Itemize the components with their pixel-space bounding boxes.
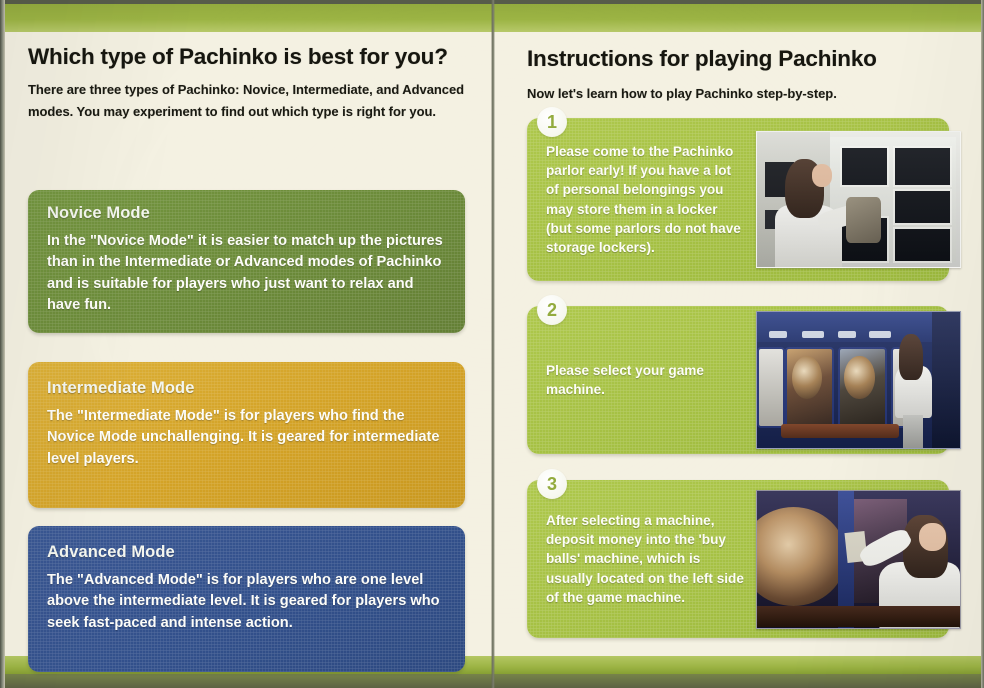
photo-sheen — [757, 491, 960, 628]
mode-card-intermediate: Intermediate Mode The "Intermediate Mode… — [28, 362, 465, 508]
step-text: Please come to the Pachinko parlor early… — [527, 142, 756, 258]
step-card-3: 3 After selecting a machine, deposit mon… — [527, 480, 949, 638]
mode-card-title: Novice Mode — [47, 204, 446, 223]
step-text: After selecting a machine, deposit money… — [527, 511, 756, 607]
brochure-page: Which type of Pachinko is best for you? … — [0, 0, 984, 688]
mode-card-title: Intermediate Mode — [47, 379, 446, 398]
mode-card-title: Advanced Mode — [47, 543, 446, 562]
right-page-intro: Now let's learn how to play Pachinko ste… — [527, 83, 961, 105]
step-card-2: 2 Please select your game machine. — [527, 306, 949, 454]
left-page-intro: There are three types of Pachinko: Novic… — [28, 79, 471, 124]
left-page-title: Which type of Pachinko is best for you? — [28, 44, 471, 70]
step-photo-locker — [756, 131, 961, 268]
mode-card-body: In the "Novice Mode" it is easier to mat… — [47, 231, 446, 316]
step-card-1: 1 Please come to the Pachinko parlor ear… — [527, 118, 949, 281]
step-photo-machines — [756, 311, 961, 449]
photo-sheen — [757, 132, 960, 267]
mode-card-body: The "Intermediate Mode" is for players w… — [47, 406, 446, 470]
mode-card-novice: Novice Mode In the "Novice Mode" it is e… — [28, 190, 465, 333]
mode-card-body: The "Advanced Mode" is for players who a… — [47, 570, 446, 634]
step-number-badge: 3 — [537, 469, 567, 499]
right-page-title: Instructions for playing Pachinko — [527, 46, 961, 72]
step-text: Please select your game machine. — [527, 361, 756, 400]
step-photo-buy-balls — [756, 490, 961, 629]
step-number-badge: 1 — [537, 107, 567, 137]
right-page: Instructions for playing Pachinko Now le… — [495, 32, 981, 642]
left-page: Which type of Pachinko is best for you? … — [5, 32, 491, 642]
step-number-badge: 2 — [537, 295, 567, 325]
mode-card-advanced: Advanced Mode The "Advanced Mode" is for… — [28, 526, 465, 672]
photo-sheen — [757, 312, 960, 448]
